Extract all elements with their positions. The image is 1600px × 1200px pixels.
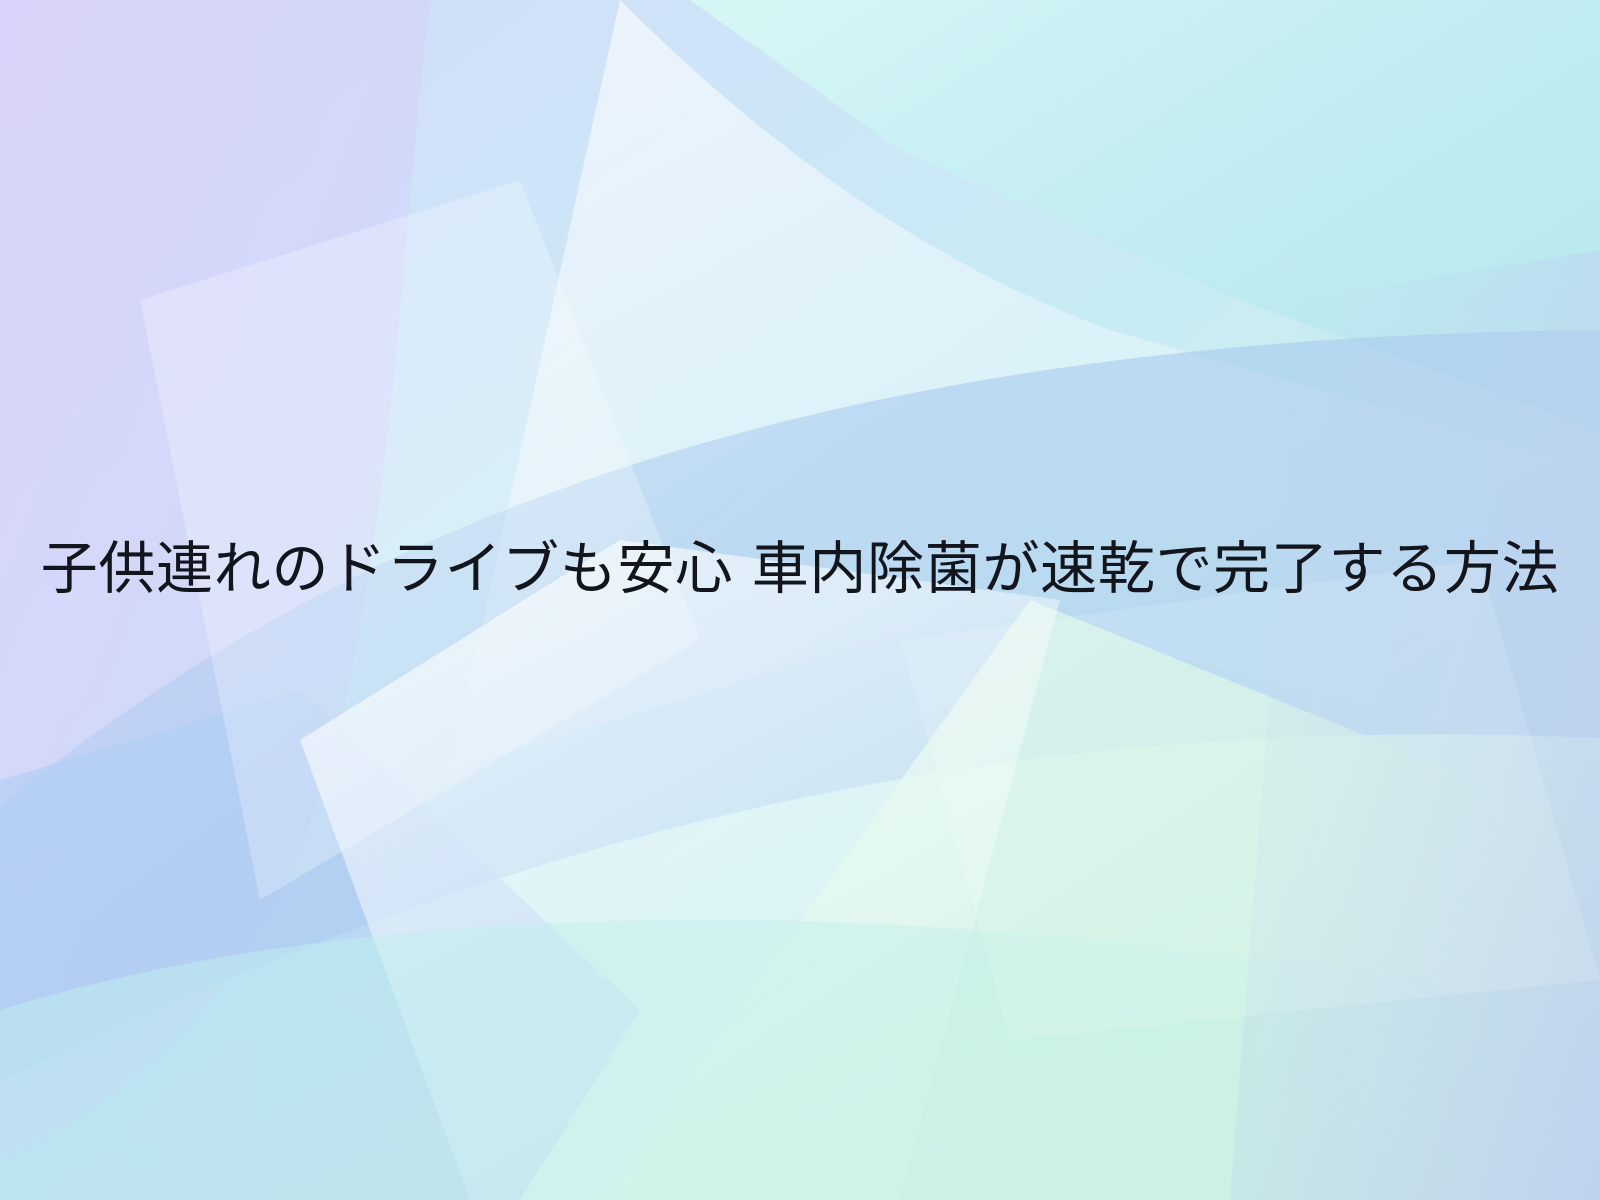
- title-card-canvas: 子供連れのドライブも安心 車内除菌が速乾で完了する方法: [0, 0, 1600, 1200]
- right-soft-facet: [900, 560, 1600, 1040]
- abstract-background-art: [0, 0, 1600, 1200]
